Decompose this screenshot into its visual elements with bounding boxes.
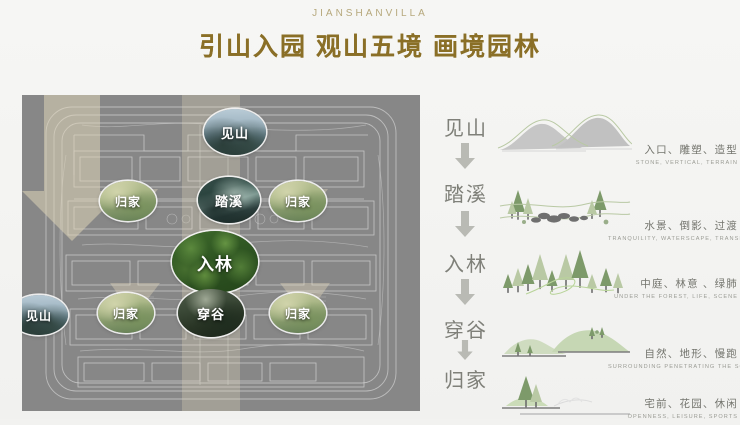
marker-label: 踏溪 — [215, 191, 243, 210]
stage-connector-arrow — [454, 204, 476, 244]
marker-label: 归家 — [115, 193, 141, 210]
stage-caption: 水景、倒影、过渡TRANQUILITY, WATERSCAPE, TRANSIT… — [608, 218, 738, 242]
stage-caption-en: OPENNESS, LEISURE, SPORTS — [608, 414, 738, 420]
stage-caption: 中庭、林意 、绿肺UNDER THE FOREST, LIFE, SCENE — [608, 276, 738, 300]
plan-marker-归家[interactable]: 归家 — [98, 293, 154, 333]
stage-caption-en: UNDER THE FOREST, LIFE, SCENE — [608, 294, 738, 300]
plan-marker-归家[interactable]: 归家 — [270, 293, 326, 333]
marker-label: 归家 — [113, 305, 139, 322]
plan-marker-入林[interactable]: 入林 — [172, 231, 258, 293]
stage-caption-cn: 入口、雕塑、造型 — [608, 142, 738, 157]
stage-connector-arrow — [454, 274, 476, 310]
brand-eyebrow: JIANSHANVILLA — [0, 8, 740, 19]
marker-label: 归家 — [285, 193, 311, 210]
stage-connector-arrow — [454, 138, 476, 174]
site-plan: 见山踏溪归家归家入林见山归家穿谷归家 — [22, 95, 420, 411]
stage-caption-cn: 宅前、花园、休闲 — [608, 396, 738, 411]
plan-marker-踏溪[interactable]: 踏溪 — [198, 177, 260, 223]
stage-caption-cn: 水景、倒影、过渡 — [608, 218, 738, 233]
journey-diagram: 见山入口、雕塑、造型STONE, VERTICAL, TERRAIN踏溪水景、倒… — [432, 96, 740, 414]
slide-root: JIANSHANVILLA 引山入园 观山五境 画境园林 — [0, 0, 740, 419]
marker-label: 归家 — [285, 305, 311, 322]
stage-caption-en: STONE, VERTICAL, TERRAIN — [608, 160, 738, 166]
plan-marker-穿谷[interactable]: 穿谷 — [178, 289, 244, 337]
plan-marker-归家[interactable]: 归家 — [270, 181, 326, 221]
marker-label: 见山 — [221, 123, 249, 142]
plan-marker-见山[interactable]: 见山 — [22, 295, 68, 335]
marker-label: 穿谷 — [197, 304, 225, 323]
stage-caption: 宅前、花园、休闲OPENNESS, LEISURE, SPORTS — [608, 396, 738, 420]
marker-label: 入林 — [197, 250, 233, 275]
stage-caption-cn: 中庭、林意 、绿肺 — [608, 276, 738, 291]
stage-connector-arrow — [454, 340, 476, 360]
plan-marker-见山[interactable]: 见山 — [204, 109, 266, 155]
plan-marker-归家[interactable]: 归家 — [100, 181, 156, 221]
marker-label: 见山 — [26, 307, 52, 324]
page-title: 引山入园 观山五境 画境园林 — [0, 27, 740, 63]
stage-caption: 入口、雕塑、造型STONE, VERTICAL, TERRAIN — [608, 142, 738, 166]
